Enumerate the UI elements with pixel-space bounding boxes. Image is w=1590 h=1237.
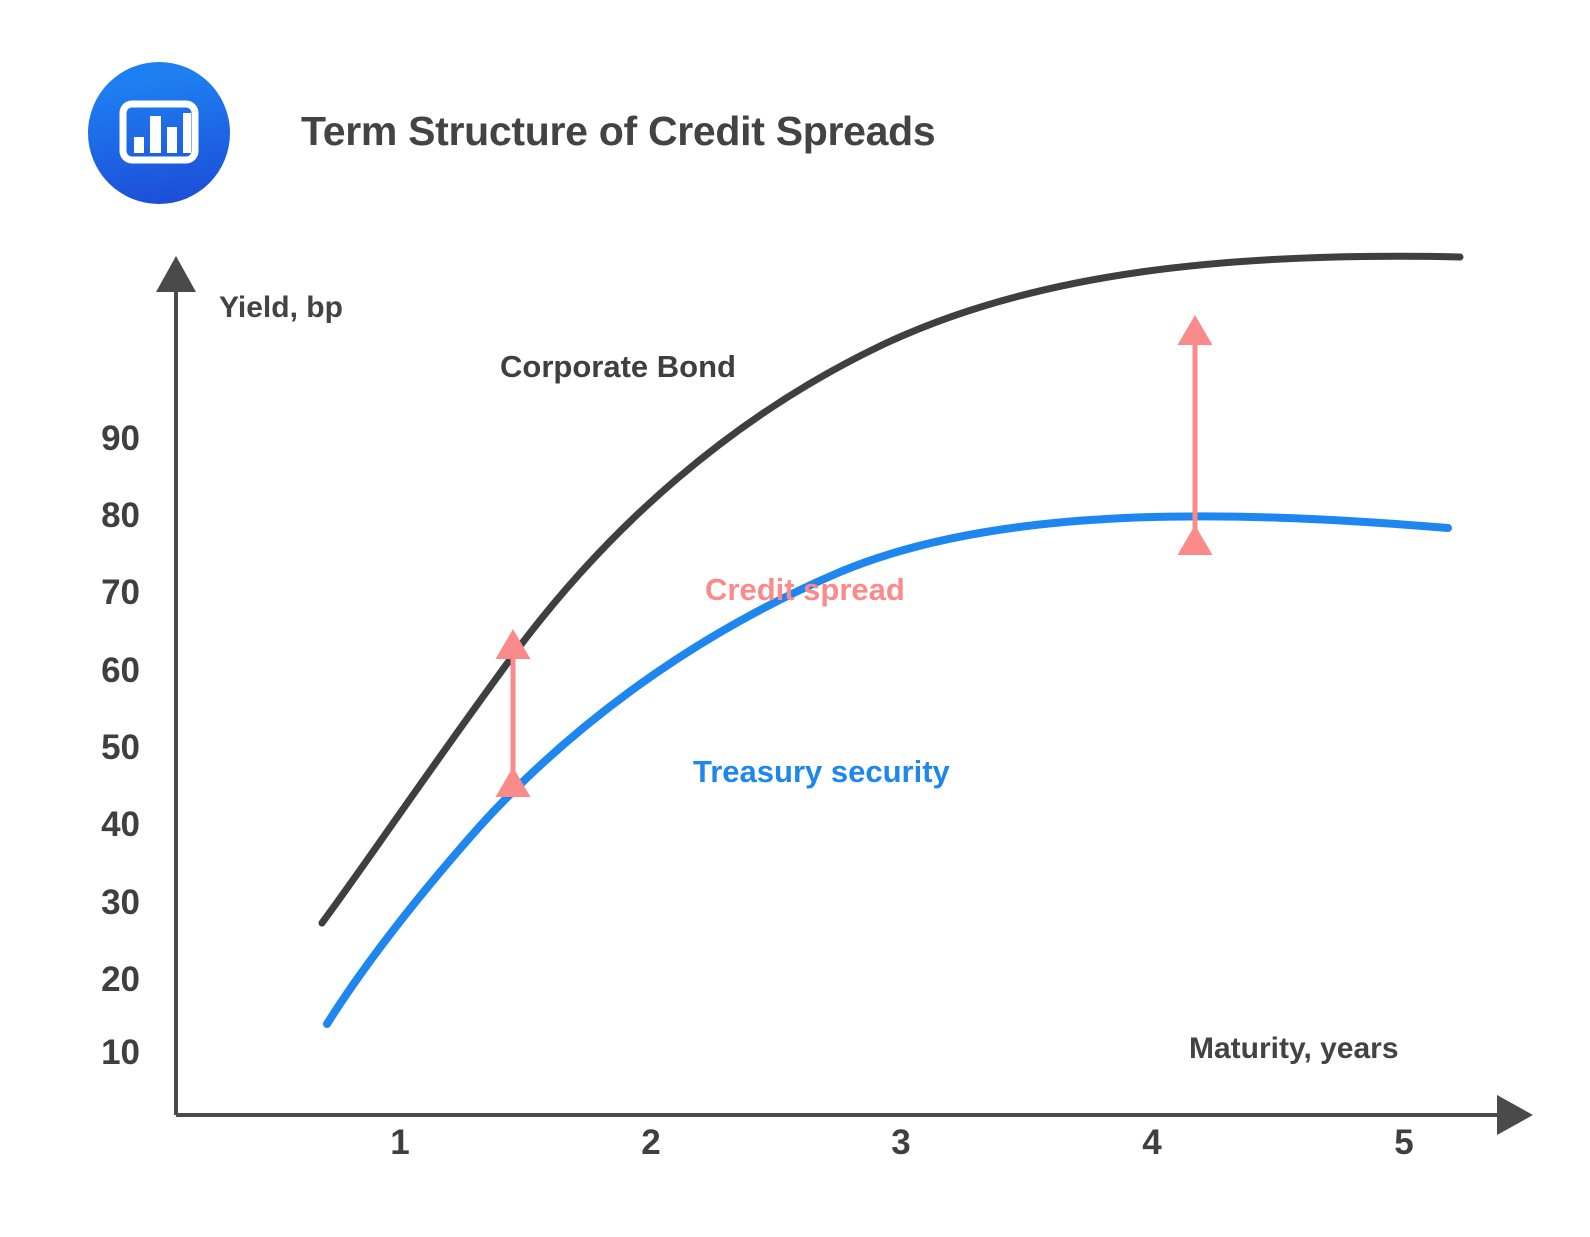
y-tick-label: 10 — [54, 1033, 140, 1073]
series-label-corporate-bond: Corporate Bond — [500, 349, 736, 385]
chart-page: Term Structure of Credit Spreads — [0, 0, 1590, 1237]
y-tick-label: 90 — [54, 419, 140, 459]
x-tick-label: 3 — [866, 1123, 936, 1163]
y-axis-title: Yield, bp — [219, 291, 343, 325]
x-tick-label: 1 — [365, 1123, 435, 1163]
x-tick-label: 4 — [1117, 1123, 1187, 1163]
y-tick-label: 30 — [54, 883, 140, 923]
chart-figure: Yield, bp Maturity, years 90 80 70 60 50… — [0, 0, 1590, 1237]
y-tick-label: 60 — [54, 651, 140, 691]
x-tick-label: 5 — [1369, 1123, 1439, 1163]
y-tick-label: 50 — [54, 728, 140, 768]
series-label-treasury-security: Treasury security — [693, 754, 950, 790]
x-axis-title: Maturity, years — [1189, 1032, 1399, 1066]
y-tick-label: 70 — [54, 573, 140, 613]
y-tick-label: 20 — [54, 960, 140, 1000]
x-tick-label: 2 — [616, 1123, 686, 1163]
annotation-label-credit-spread: Credit spread — [705, 572, 905, 608]
y-tick-label: 40 — [54, 805, 140, 845]
y-tick-label: 80 — [54, 496, 140, 536]
